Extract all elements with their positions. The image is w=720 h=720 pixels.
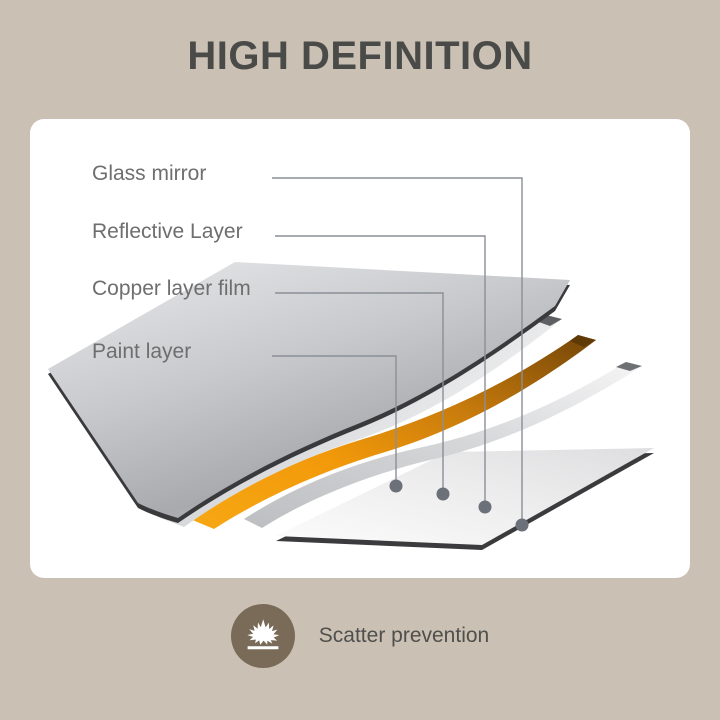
label-paint-layer: Paint layer bbox=[92, 340, 191, 363]
mirror-layer-illustration: Glass mirror Reflective Layer Copper lay… bbox=[30, 119, 690, 578]
label-copper-layer-film: Copper layer film bbox=[92, 277, 251, 300]
page-root: HIGH DEFINITION bbox=[0, 0, 720, 720]
page-title: HIGH DEFINITION bbox=[0, 32, 720, 80]
diagram-card: Glass mirror Reflective Layer Copper lay… bbox=[30, 119, 690, 578]
shatter-burst-icon bbox=[231, 604, 295, 668]
feature-badge: Scatter prevention bbox=[0, 598, 720, 674]
label-reflective-layer: Reflective Layer bbox=[92, 220, 243, 243]
badge-label: Scatter prevention bbox=[319, 624, 489, 648]
label-glass-mirror: Glass mirror bbox=[92, 162, 206, 185]
shatter-burst-glyph bbox=[243, 616, 283, 656]
